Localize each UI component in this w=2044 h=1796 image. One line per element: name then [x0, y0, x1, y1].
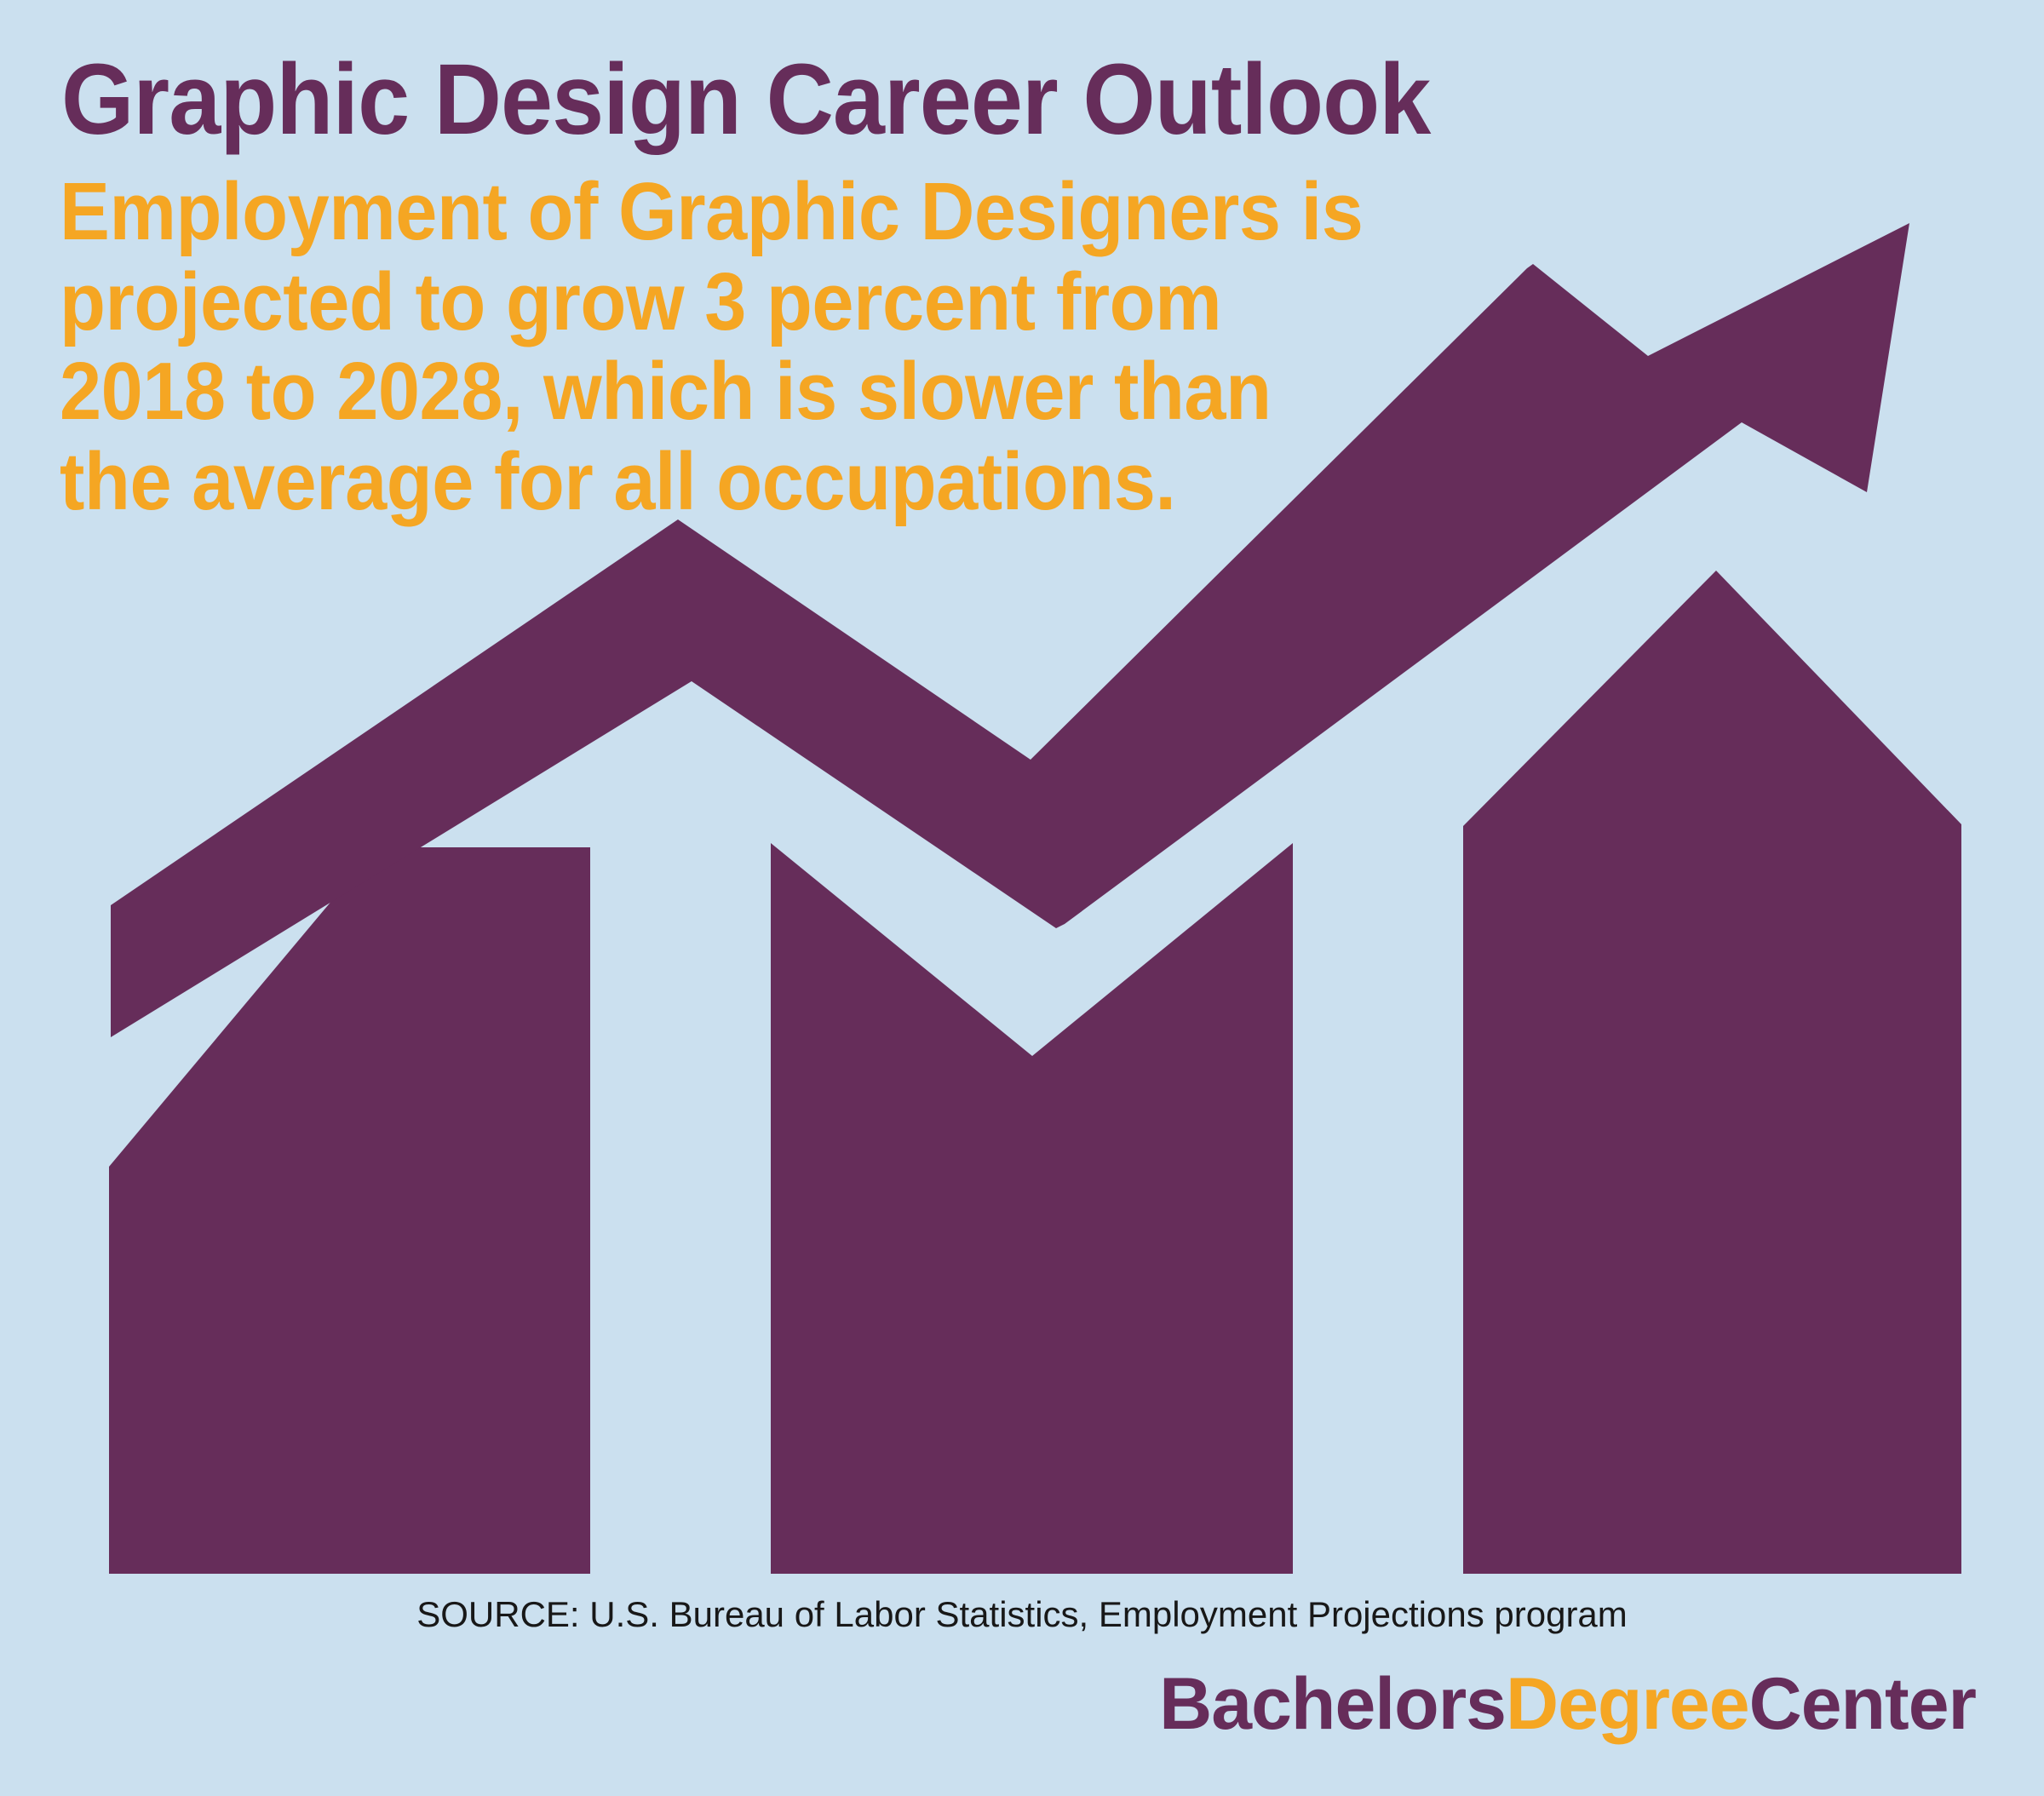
page-title: Graphic Design Career Outlook [61, 49, 1430, 150]
subheadline-line-3: 2018 to 2028, which is slower than [60, 347, 1494, 437]
infographic-canvas: Graphic Design Career Outlook Employment… [0, 0, 2044, 1796]
brand-logo-part-degree: Degree [1506, 1663, 1749, 1745]
brand-logo-part-center: Center [1749, 1663, 1976, 1745]
brand-logo[interactable]: BachelorsDegreeCenter [1159, 1667, 1976, 1741]
subheadline-line-4: the average for all occupations. [60, 437, 1494, 527]
bar-2 [771, 843, 1293, 1574]
subheadline: Employment of Graphic Designers is proje… [60, 167, 1494, 526]
subheadline-line-2: projected to grow 3 percent from [60, 257, 1494, 347]
subheadline-line-1: Employment of Graphic Designers is [60, 167, 1494, 257]
brand-logo-part-bachelors: Bachelors [1159, 1663, 1506, 1745]
bar-3 [1463, 571, 1961, 1574]
source-attribution: SOURCE: U.S. Bureau of Labor Statistics,… [0, 1594, 2044, 1635]
